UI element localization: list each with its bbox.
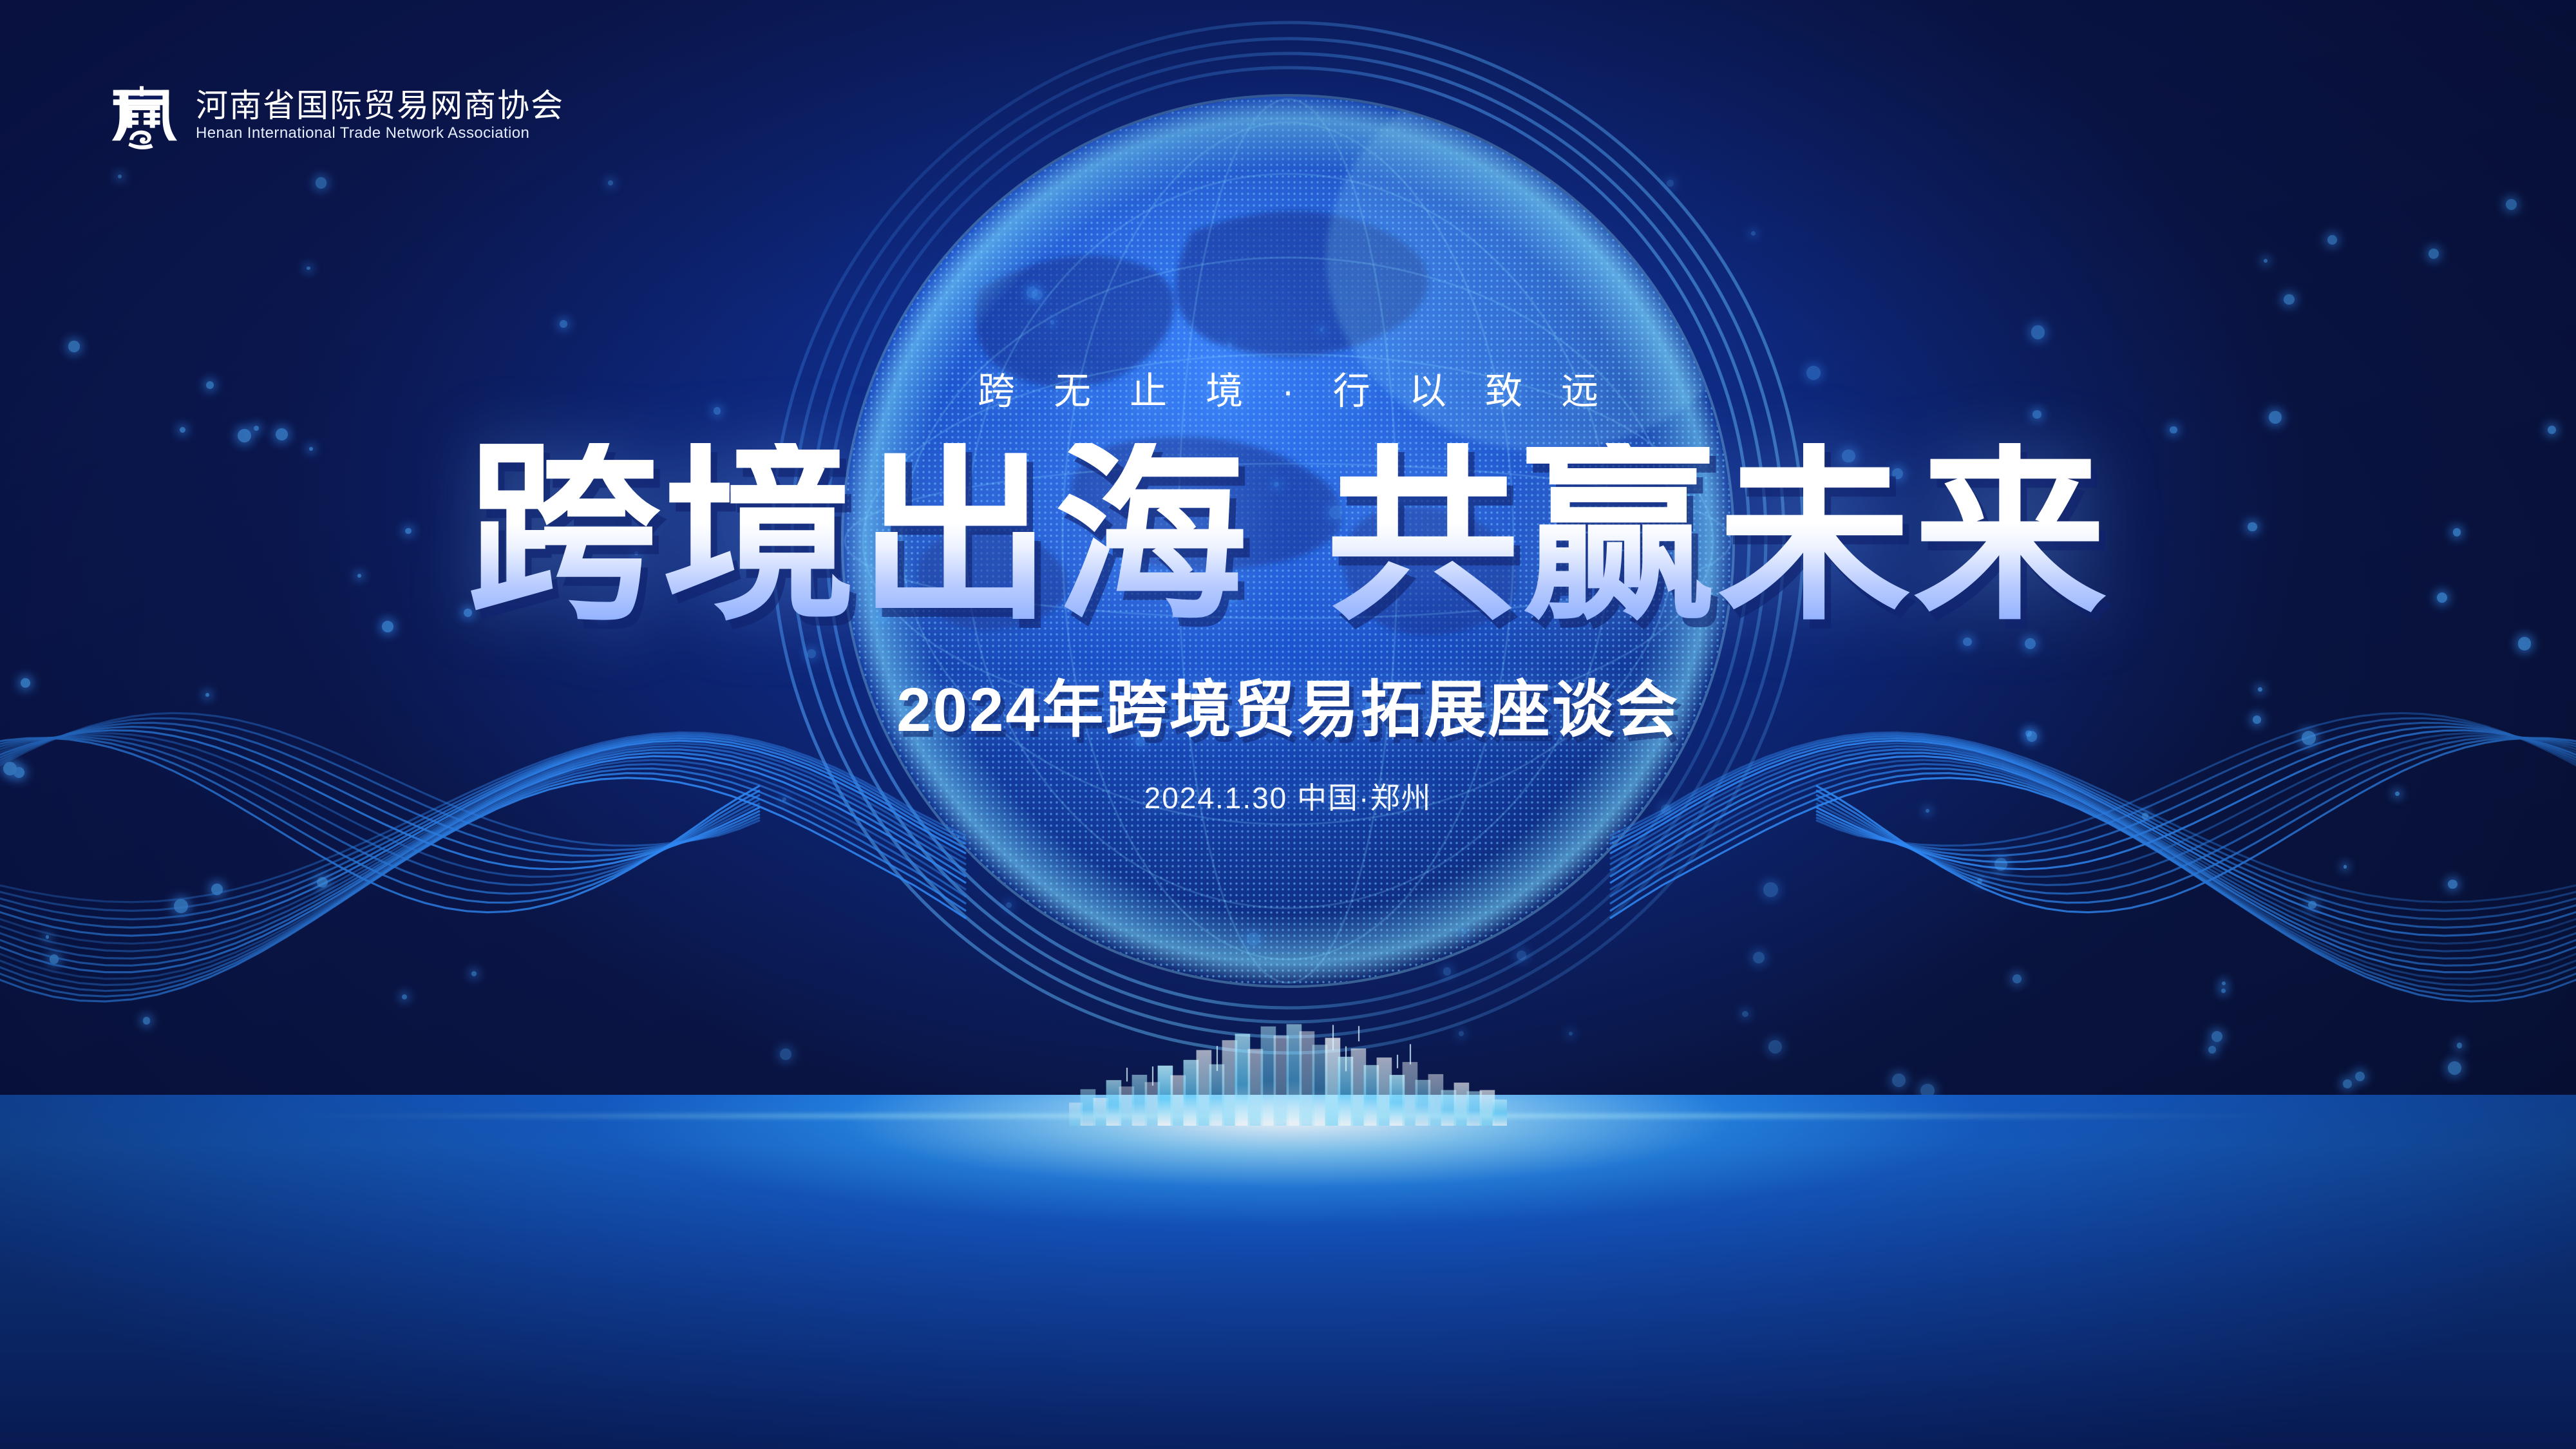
particle [780,1048,791,1060]
particle [1768,1040,1782,1054]
particle [1994,858,2007,871]
particle [2457,1043,2463,1048]
poster-headline: 跨境出海 共赢未来 [0,443,2576,625]
particle [2448,1061,2461,1075]
particle [1753,952,1765,963]
particle [1569,1032,1573,1036]
particle [1742,1011,1748,1017]
poster-dateline: 2024.1.30 中国·郑州 [0,775,2576,817]
particle [2222,981,2226,985]
particle [2208,1046,2216,1054]
poster-subtitle: 2024年跨境贸易拓展座谈会 [0,659,2576,749]
city-skyline-icon [1069,1023,1507,1126]
particle [1247,933,1260,945]
light-rays-icon [0,1117,2576,1449]
poster-content: 跨 无 止 境 · 行 以 致 远 跨境出海 共赢未来 2024年跨境贸易拓展座… [0,0,2576,817]
particle [2343,1079,2352,1088]
horizon-glow-line [0,1113,2576,1119]
particle [1443,967,1451,975]
particle [2211,1031,2222,1042]
particle [1977,878,1982,884]
particle [2012,974,2022,983]
particle [46,935,49,938]
particle [143,1017,151,1025]
particle [471,971,477,976]
particle [2344,865,2347,868]
particle [402,994,408,1000]
particle [317,877,328,888]
particle [1920,1084,1934,1097]
horizon-ground [0,1095,2576,1449]
particle [50,954,59,963]
particle [1763,882,1778,897]
particle [2308,901,2316,909]
particle [2448,880,2458,889]
particle [2355,1072,2365,1081]
particle [174,899,188,913]
particle [2221,989,2226,993]
particle [1462,930,1466,934]
particle [1892,1074,1906,1087]
headline-part-1: 跨境出海 [467,443,1250,625]
particle [1459,1031,1464,1036]
poster-tagline: 跨 无 止 境 · 行 以 致 远 [0,361,2576,415]
event-poster: 河南省国际贸易网商协会 Henan International Trade Ne… [0,0,2576,1449]
particle [1517,951,1526,960]
particle [211,884,223,895]
particle [1006,902,1012,908]
headline-part-2: 共赢未来 [1326,443,2109,625]
